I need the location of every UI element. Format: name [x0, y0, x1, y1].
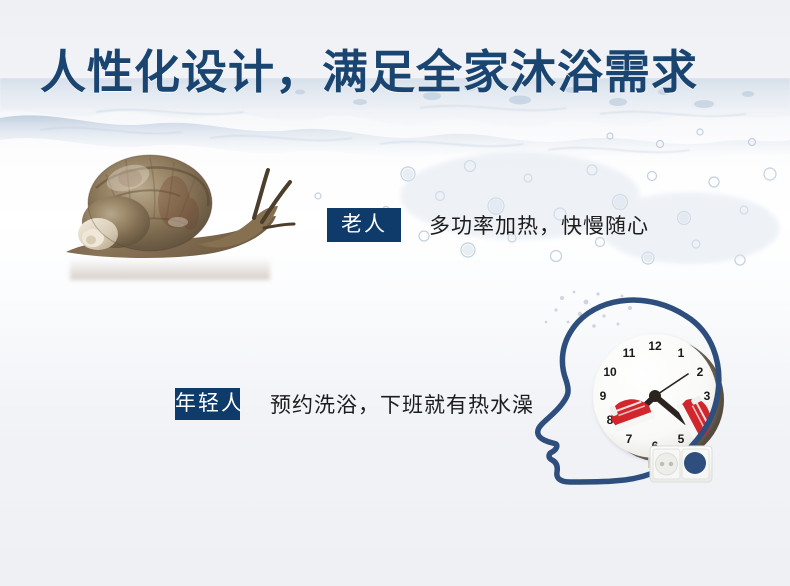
feature-row-young: 年轻人 预约洗浴，下班就有热水澡	[175, 388, 534, 420]
svg-text:2: 2	[697, 365, 704, 379]
svg-text:10: 10	[603, 365, 617, 379]
feature-text-elder: 多功率加热，快慢随心	[429, 210, 649, 240]
svg-text:1: 1	[678, 346, 685, 360]
svg-text:11: 11	[623, 346, 636, 360]
wall-socket	[650, 446, 712, 482]
page-title: 人性化设计，满足全家沐浴需求	[40, 47, 698, 98]
badge-young: 年轻人	[175, 388, 240, 420]
svg-text:12: 12	[648, 339, 662, 353]
svg-text:9: 9	[600, 389, 607, 403]
svg-text:3: 3	[704, 389, 711, 403]
feature-row-elder: 老人 多功率加热，快慢随心	[327, 208, 649, 242]
svg-text:7: 7	[626, 432, 633, 446]
badge-elder: 老人	[327, 208, 401, 242]
head-clock-illustration: 12 1 2 3 4 5 6 7 8 9 10 11	[490, 288, 740, 488]
promo-poster: 人性化设计，满足全家沐浴需求	[0, 0, 790, 586]
svg-text:5: 5	[678, 432, 685, 446]
snail-photo	[58, 148, 298, 273]
